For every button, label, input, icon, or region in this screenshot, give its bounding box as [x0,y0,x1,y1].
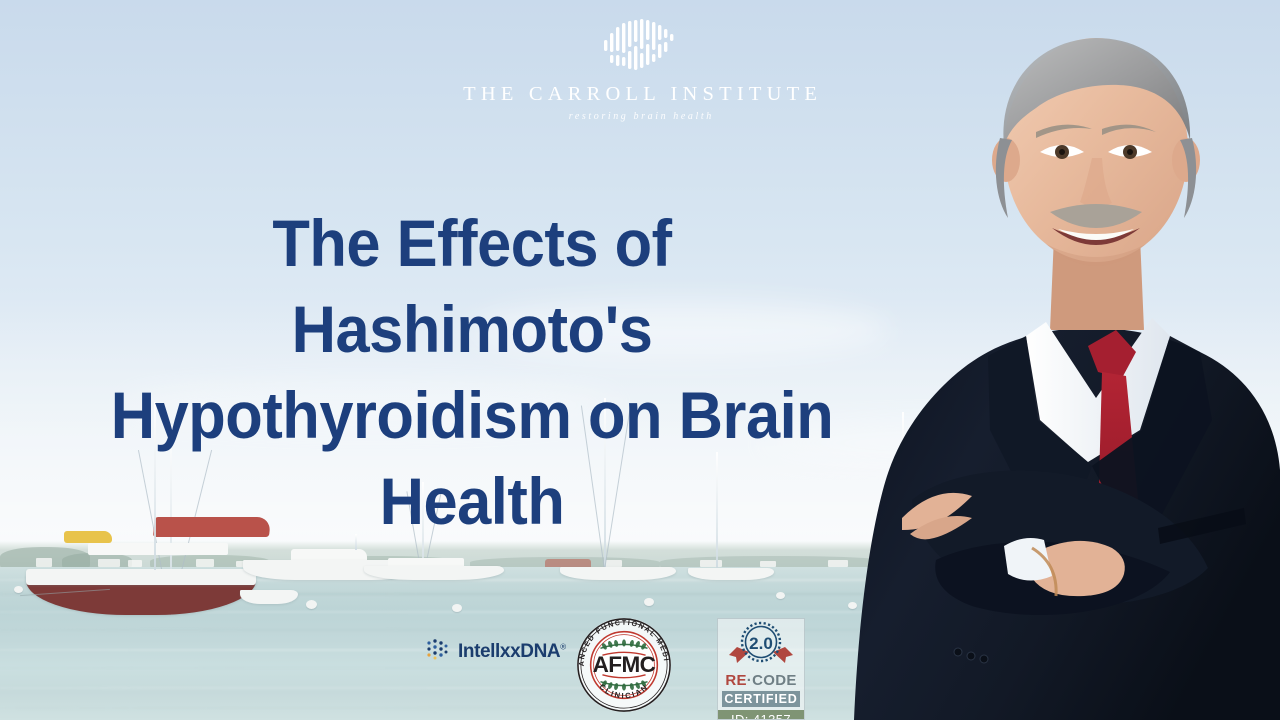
dinghy [240,582,300,604]
presentation-slide: THE CARROLL INSTITUTE restoring brain he… [0,0,1280,720]
badge-recode-certified[interactable]: 2.0 RE·CODE CERTIFIED ID: 41357 [717,618,805,720]
afmc-acronym: AFMC [593,652,656,677]
badge-intellxxdna[interactable]: IntellxxDNA® [425,637,566,666]
recode-seal-icon: 2.0 [725,621,797,672]
mooring-buoy [306,600,317,609]
speaker-portrait [840,0,1280,720]
brain-bars-icon [600,14,680,74]
registered-trademark-icon: ® [560,643,566,652]
head [992,38,1200,266]
sailboat-hull-mid-b [688,558,778,580]
sailboat-hull-mid [560,556,680,580]
recode-version: 2.0 [749,634,773,653]
recode-id: ID: 41357 [717,710,805,720]
mooring-buoy [644,598,654,606]
logo-institute-name: THE CARROLL INSTITUTE [458,84,822,105]
intellxxdna-wordmark: IntellxxDNA® [458,642,566,661]
recode-status: CERTIFIED [722,691,800,707]
mooring-buoy [776,592,785,599]
slide-title: The Effects of Hashimoto's Hypothyroidis… [91,200,854,544]
badge-afmc[interactable]: AFMC ADVANCED FUNCTIONAL MEDICINE CLINIC… [575,616,673,719]
dna-dot-matrix-icon [425,637,451,666]
logo-tagline: restoring brain health [566,112,714,122]
recode-wordmark: RE·CODE [725,673,796,688]
mooring-buoy [14,586,23,593]
credential-badges: IntellxxDNA® [420,610,820,720]
